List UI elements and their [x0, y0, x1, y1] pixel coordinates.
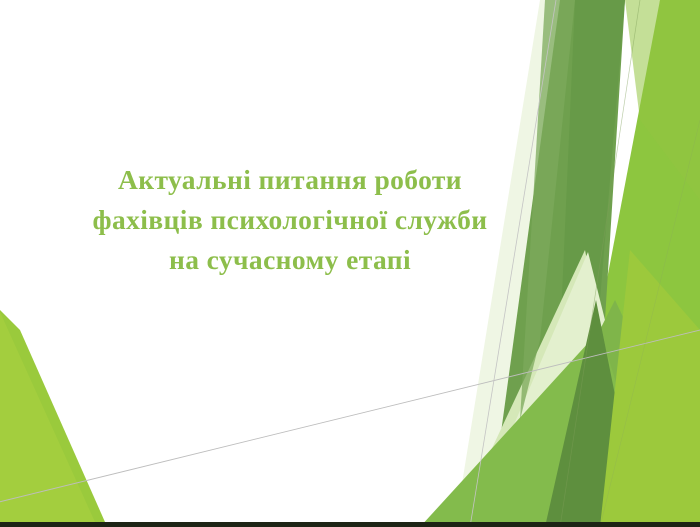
facet-background-decoration [0, 0, 700, 527]
presentation-slide: Актуальні питання роботи фахівців психол… [0, 0, 700, 527]
slide-bottom-rule [0, 522, 700, 527]
